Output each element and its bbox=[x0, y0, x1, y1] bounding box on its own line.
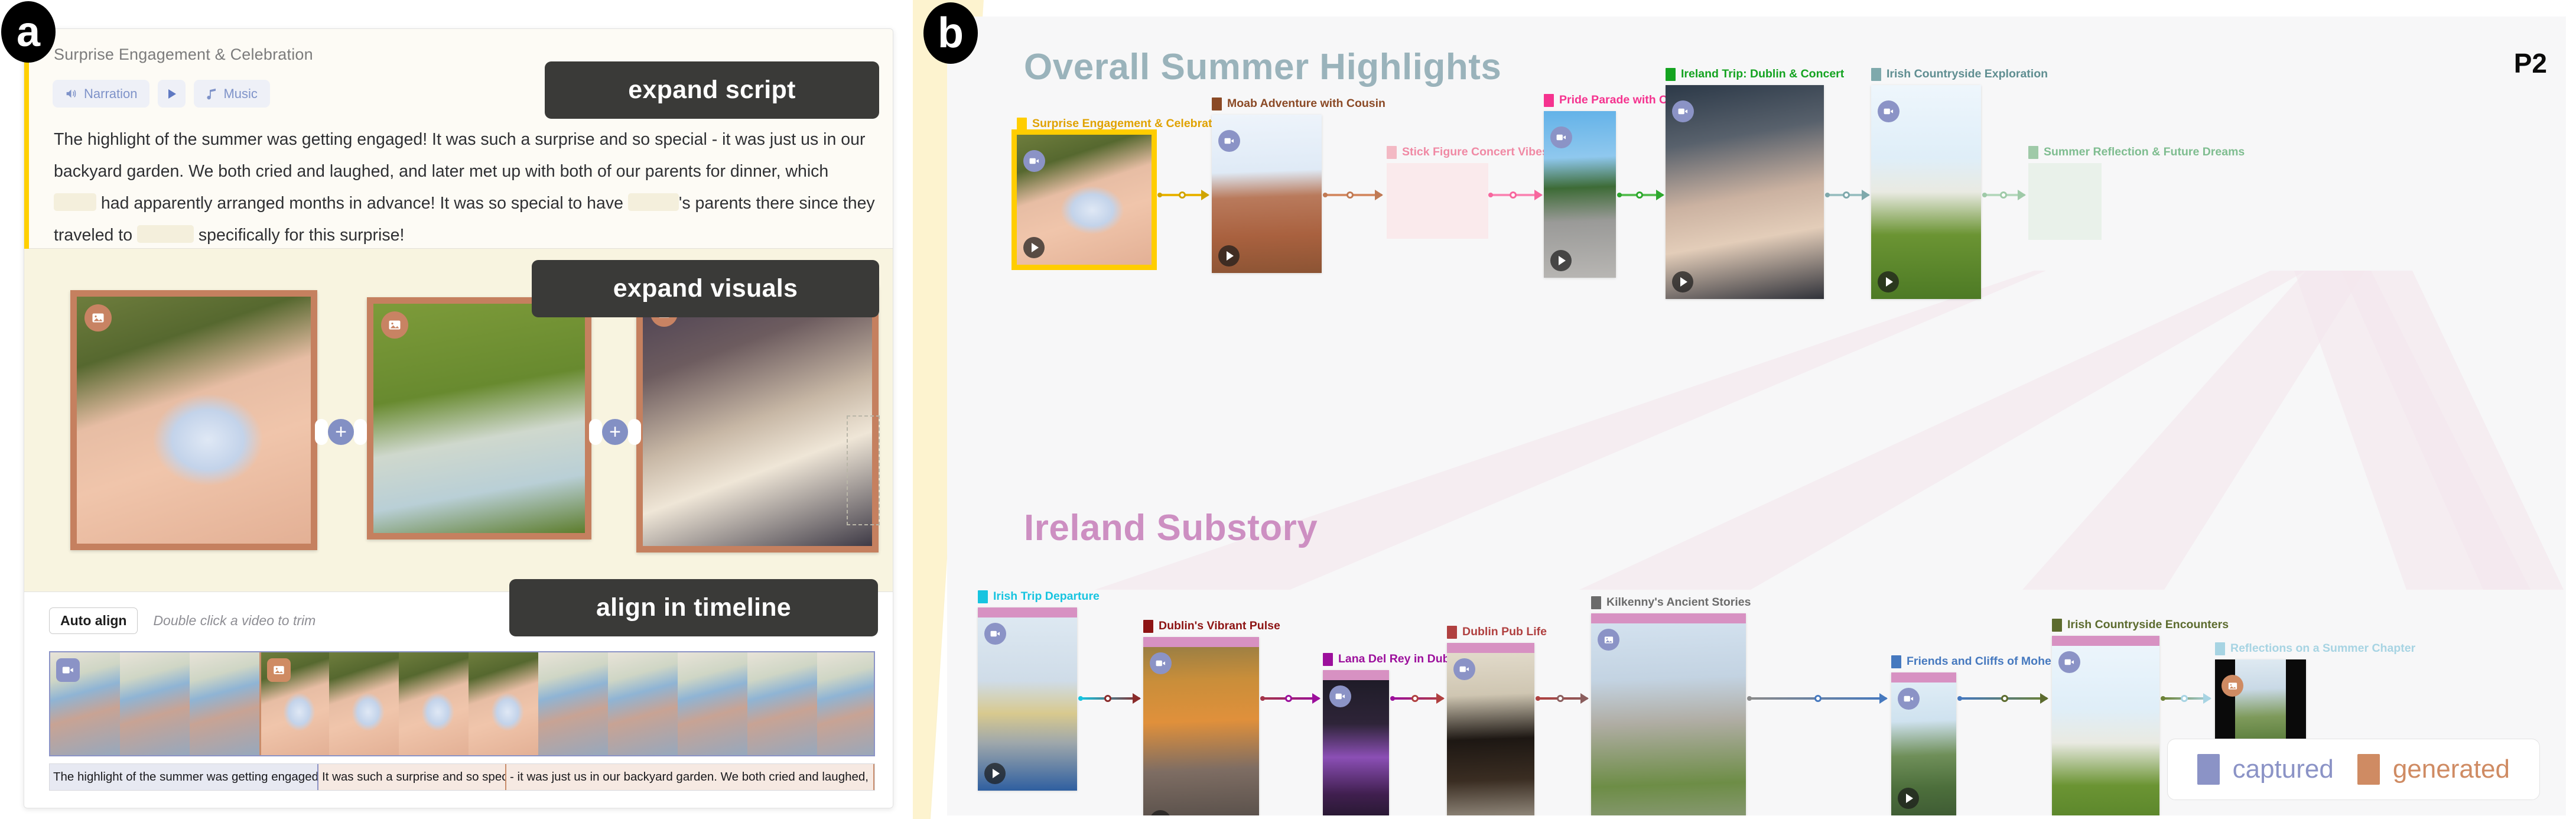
node-label: Surprise Engagement & Celebration bbox=[1017, 117, 1230, 131]
node-color-swatch bbox=[2028, 146, 2038, 159]
video-icon bbox=[1672, 100, 1694, 122]
panel-a-editor: a Surprise Engagement & Celebration Narr… bbox=[0, 0, 913, 819]
video-icon bbox=[1218, 130, 1240, 152]
video-icon bbox=[1150, 652, 1172, 674]
node-label-text: Friends and Cliffs of Moher bbox=[1907, 655, 2055, 668]
node-color-swatch bbox=[1891, 655, 1901, 668]
node-color-swatch bbox=[1666, 68, 1676, 81]
video-icon bbox=[1878, 100, 1900, 122]
visual-photo-1 bbox=[77, 297, 311, 544]
filmstrip-frame[interactable] bbox=[538, 652, 608, 755]
script-title: Surprise Engagement & Celebration bbox=[54, 45, 313, 64]
node-color-swatch bbox=[1387, 146, 1397, 159]
section-title-substory: Ireland Substory bbox=[1024, 507, 1318, 549]
node-overall-2[interactable]: Stick Figure Concert Vibes bbox=[1387, 163, 1488, 239]
panel-label-b: b bbox=[923, 2, 978, 64]
node-label-text: Lana Del Rey in Dublin bbox=[1338, 652, 1463, 666]
edge-substory-6-7 bbox=[2163, 697, 2210, 700]
node-substory-2[interactable]: Lana Del Rey in Dublin bbox=[1323, 670, 1389, 815]
node-substory-1[interactable]: Dublin's Vibrant Pulse bbox=[1143, 637, 1259, 815]
edge-substory-4-5 bbox=[1749, 697, 1887, 700]
edge-overall-2-3 bbox=[1491, 194, 1541, 196]
node-color-swatch bbox=[2052, 619, 2062, 632]
timeline-caption-row[interactable]: The highlight of the summer was getting … bbox=[49, 763, 875, 791]
legend-label-generated: generated bbox=[2393, 755, 2510, 784]
node-thumbnail[interactable] bbox=[1871, 85, 1981, 299]
edge-substory-5-6 bbox=[1960, 697, 2047, 700]
edge-substory-1-2 bbox=[1263, 697, 1319, 700]
add-visual-button-1[interactable]: + bbox=[328, 419, 354, 445]
edge-overall-4-5 bbox=[1827, 194, 1869, 196]
node-label: Moab Adventure with Cousin bbox=[1212, 97, 1385, 110]
node-overall-1[interactable]: Moab Adventure with Cousin bbox=[1212, 115, 1322, 273]
redacted-name-1 bbox=[54, 193, 96, 211]
node-thumbnail[interactable] bbox=[1143, 637, 1259, 815]
node-color-swatch bbox=[1544, 94, 1554, 107]
image-icon bbox=[84, 304, 112, 331]
video-icon bbox=[1898, 688, 1920, 710]
video-icon bbox=[56, 658, 80, 682]
video-icon bbox=[2058, 651, 2080, 673]
legend-label-captured: captured bbox=[2233, 755, 2334, 784]
node-substory-0[interactable]: Irish Trip Departure bbox=[978, 607, 1077, 791]
trim-hint-text: Double click a video to trim bbox=[153, 613, 316, 629]
substory-marker-bar bbox=[1447, 643, 1534, 653]
node-label-text: Moab Adventure with Cousin bbox=[1227, 97, 1385, 110]
node-label: Irish Trip Departure bbox=[978, 590, 1100, 603]
filmstrip-frame[interactable] bbox=[190, 652, 259, 755]
play-button[interactable] bbox=[984, 763, 1006, 784]
video-icon bbox=[1453, 658, 1475, 680]
play-button[interactable] bbox=[1023, 237, 1045, 258]
node-label: Lana Del Rey in Dublin bbox=[1323, 652, 1463, 666]
filmstrip-frame[interactable] bbox=[399, 652, 469, 755]
filmstrip-frame[interactable] bbox=[259, 652, 329, 755]
edge-substory-0-1 bbox=[1081, 697, 1140, 700]
plus-cap-left-1 bbox=[315, 419, 328, 445]
node-thumbnail[interactable] bbox=[1544, 111, 1616, 278]
callout-expand-script: expand script bbox=[545, 61, 879, 119]
node-thumbnail[interactable] bbox=[1591, 613, 1746, 815]
play-button[interactable] bbox=[1218, 245, 1240, 266]
panel-b-storyboard: Overall Summer Highlights Ireland Substo… bbox=[913, 0, 2576, 819]
node-label: Irish Countryside Encounters bbox=[2052, 618, 2229, 632]
music-note-icon bbox=[206, 88, 217, 100]
narration-label: Narration bbox=[84, 86, 137, 102]
edge-overall-3-4 bbox=[1619, 194, 1663, 196]
edge-overall-5-6 bbox=[1985, 194, 2025, 196]
visual-card-1[interactable] bbox=[70, 290, 317, 550]
node-label-text: Dublin Pub Life bbox=[1462, 625, 1547, 639]
script-text-part-2: had apparently arranged months in advanc… bbox=[96, 194, 628, 213]
play-button[interactable] bbox=[1672, 271, 1693, 292]
image-icon bbox=[381, 311, 408, 339]
video-icon bbox=[1550, 126, 1572, 148]
video-icon bbox=[1023, 150, 1045, 172]
legend-item-captured: captured bbox=[2197, 754, 2334, 785]
node-label: Kilkenny's Ancient Stories bbox=[1591, 596, 1751, 609]
filmstrip-frame[interactable] bbox=[747, 652, 817, 755]
substory-marker-bar bbox=[1891, 672, 1956, 682]
legend: captured generated bbox=[2167, 739, 2540, 800]
substory-marker-bar bbox=[1591, 613, 1746, 623]
filmstrip-frame[interactable] bbox=[469, 652, 538, 755]
node-label-text: Kilkenny's Ancient Stories bbox=[1606, 596, 1751, 609]
node-substory-6[interactable]: Irish Countryside Encounters bbox=[2052, 636, 2159, 815]
node-label-text: Irish Countryside Encounters bbox=[2067, 618, 2229, 632]
node-overall-3[interactable]: Pride Parade with Coworkers bbox=[1544, 111, 1616, 278]
node-thumbnail[interactable] bbox=[1891, 672, 1956, 815]
node-color-swatch bbox=[1871, 68, 1881, 81]
node-thumbnail[interactable] bbox=[1447, 643, 1534, 815]
caption-segment[interactable]: The highlight of the summer was getting … bbox=[50, 763, 318, 791]
node-thumbnail[interactable] bbox=[1212, 115, 1322, 273]
image-icon bbox=[267, 658, 291, 682]
caption-segment[interactable]: - it was just us in our backyard garden.… bbox=[506, 763, 874, 791]
image-icon bbox=[2222, 675, 2243, 697]
node-label: Dublin Pub Life bbox=[1447, 625, 1547, 639]
filmstrip-frame[interactable] bbox=[329, 652, 399, 755]
node-label: Dublin's Vibrant Pulse bbox=[1143, 619, 1280, 633]
node-label-text: Reflections on a Summer Chapter bbox=[2230, 642, 2415, 655]
node-thumbnail[interactable] bbox=[2052, 636, 2159, 815]
caption-segment[interactable]: It was such a surprise and so special bbox=[318, 763, 506, 791]
node-color-swatch bbox=[2215, 642, 2225, 655]
filmstrip-frame[interactable] bbox=[608, 652, 678, 755]
timeline-toolbar: Auto align Double click a video to trim bbox=[49, 607, 316, 634]
add-visual-button-2[interactable]: + bbox=[602, 419, 628, 445]
node-label-text: Stick Figure Concert Vibes bbox=[1402, 145, 1549, 159]
plus-cap-right-2 bbox=[628, 419, 641, 445]
substory-marker-bar bbox=[1323, 670, 1389, 680]
audio-pill-row: Narration Music bbox=[53, 80, 270, 108]
image-icon bbox=[1598, 629, 1619, 651]
visual-photo-3 bbox=[643, 292, 872, 546]
auto-align-button[interactable]: Auto align bbox=[49, 607, 138, 634]
storyboard-canvas[interactable]: Overall Summer Highlights Ireland Substo… bbox=[947, 17, 2566, 815]
callout-align-in-timeline: align in timeline bbox=[509, 579, 878, 636]
substory-marker-bar bbox=[1143, 637, 1259, 647]
legend-swatch-generated bbox=[2357, 754, 2380, 785]
node-label-text: Ireland Trip: Dublin & Concert bbox=[1681, 67, 1844, 81]
story-editor-card: Surprise Engagement & Celebration Narrat… bbox=[24, 28, 893, 808]
timeline-filmstrip[interactable] bbox=[49, 651, 875, 756]
redacted-place-1 bbox=[137, 225, 194, 243]
music-label: Music bbox=[223, 86, 257, 102]
node-label: Stick Figure Concert Vibes bbox=[1387, 145, 1549, 159]
node-thumbnail-placeholder[interactable] bbox=[2028, 163, 2102, 240]
play-button[interactable] bbox=[1898, 788, 1919, 809]
visual-drop-placeholder[interactable] bbox=[847, 415, 880, 525]
substory-marker-bar bbox=[2052, 636, 2159, 646]
node-color-swatch bbox=[1017, 118, 1027, 131]
section-title-overall: Overall Summer Highlights bbox=[1024, 46, 1501, 88]
edge-overall-1-2 bbox=[1325, 194, 1382, 196]
node-color-swatch bbox=[1591, 596, 1601, 609]
node-label-text: Surprise Engagement & Celebration bbox=[1032, 117, 1230, 131]
node-overall-4[interactable]: Ireland Trip: Dublin & Concert bbox=[1666, 85, 1824, 299]
node-label-text: Summer Reflection & Future Dreams bbox=[2044, 145, 2245, 159]
video-icon bbox=[984, 623, 1006, 645]
callout-expand-visuals: expand visuals bbox=[532, 260, 879, 317]
edge-substory-3-4 bbox=[1538, 697, 1588, 700]
page-label: P2 bbox=[2514, 47, 2547, 79]
filmstrip-frame[interactable] bbox=[120, 652, 190, 755]
plus-cap-right-1 bbox=[354, 419, 367, 445]
music-pill[interactable]: Music bbox=[194, 80, 269, 108]
node-label: Reflections on a Summer Chapter bbox=[2215, 642, 2415, 655]
edge-substory-2-3 bbox=[1393, 697, 1443, 700]
panel-label-a: a bbox=[1, 1, 56, 63]
filmstrip-frame[interactable] bbox=[50, 652, 120, 755]
screenshot-root: a Surprise Engagement & Celebration Narr… bbox=[0, 0, 2576, 819]
substory-marker-bar bbox=[978, 607, 1077, 617]
visual-photo-2 bbox=[373, 304, 585, 533]
redacted-name-2 bbox=[628, 193, 679, 211]
filmstrip-frame[interactable] bbox=[678, 652, 747, 755]
play-button[interactable] bbox=[1878, 271, 1899, 292]
narration-pill[interactable]: Narration bbox=[53, 80, 149, 108]
node-color-swatch bbox=[1447, 626, 1457, 639]
node-overall-5[interactable]: Irish Countryside Exploration bbox=[1871, 85, 1981, 299]
node-substory-4[interactable]: Kilkenny's Ancient Stories bbox=[1591, 613, 1746, 815]
node-substory-5[interactable]: Friends and Cliffs of Moher bbox=[1891, 672, 1956, 815]
node-label: Friends and Cliffs of Moher bbox=[1891, 655, 2055, 668]
plus-cap-left-2 bbox=[589, 419, 602, 445]
speaker-icon bbox=[65, 87, 77, 100]
script-body-text[interactable]: The highlight of the summer was getting … bbox=[54, 123, 875, 251]
visual-card-3[interactable] bbox=[636, 285, 879, 552]
node-overall-0[interactable]: Surprise Engagement & Celebration bbox=[1017, 135, 1152, 265]
edge-overall-0-1 bbox=[1160, 194, 1208, 196]
play-narration-button[interactable] bbox=[158, 80, 186, 108]
node-label-text: Dublin's Vibrant Pulse bbox=[1159, 619, 1280, 633]
filmstrip-frame[interactable] bbox=[817, 652, 875, 755]
legend-swatch-captured bbox=[2197, 754, 2220, 785]
node-color-swatch bbox=[1323, 653, 1333, 666]
node-thumbnail[interactable] bbox=[1323, 670, 1389, 815]
script-text-part-1: The highlight of the summer was getting … bbox=[54, 130, 865, 181]
node-color-swatch bbox=[1143, 620, 1153, 633]
node-thumbnail[interactable] bbox=[1666, 85, 1824, 299]
node-thumbnail[interactable] bbox=[978, 607, 1077, 791]
play-icon bbox=[167, 89, 177, 99]
visual-card-2[interactable] bbox=[367, 297, 591, 539]
node-thumbnail-placeholder[interactable] bbox=[1387, 163, 1488, 239]
script-text-part-4: specifically for this surprise! bbox=[194, 226, 404, 245]
node-thumbnail[interactable] bbox=[1017, 135, 1152, 265]
node-overall-6[interactable]: Summer Reflection & Future Dreams bbox=[2028, 163, 2102, 240]
play-button[interactable] bbox=[1550, 250, 1572, 271]
video-icon bbox=[1329, 685, 1351, 707]
node-label-text: Irish Countryside Exploration bbox=[1887, 67, 2048, 81]
node-color-swatch bbox=[978, 590, 988, 603]
node-color-swatch bbox=[1212, 97, 1222, 110]
node-substory-3[interactable]: Dublin Pub Life bbox=[1447, 643, 1534, 815]
node-label-text: Irish Trip Departure bbox=[993, 590, 1100, 603]
legend-item-generated: generated bbox=[2357, 754, 2510, 785]
node-label: Irish Countryside Exploration bbox=[1871, 67, 2048, 81]
node-label: Ireland Trip: Dublin & Concert bbox=[1666, 67, 1844, 81]
node-label: Summer Reflection & Future Dreams bbox=[2028, 145, 2245, 159]
